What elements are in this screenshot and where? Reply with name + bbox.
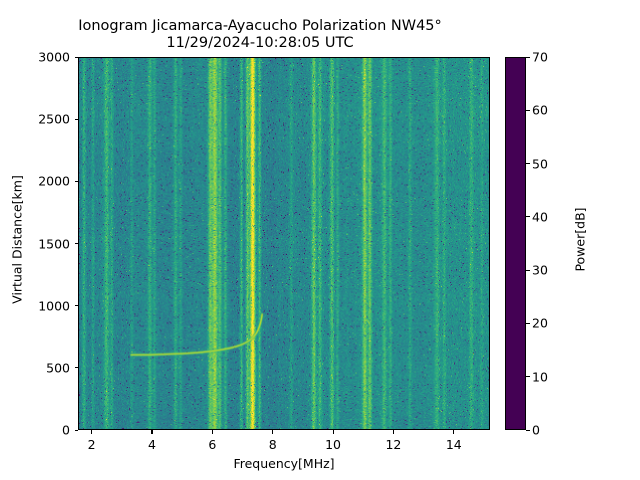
colorbar-tick-mark [526, 430, 530, 431]
y-tick-mark [75, 119, 79, 120]
x-tick-label: 4 [148, 437, 156, 452]
y-tick-mark [75, 57, 79, 58]
title-line-1: Ionogram Jicamarca-Ayacucho Polarization… [0, 18, 520, 35]
y-tick-label: 500 [0, 360, 70, 375]
y-tick-mark [75, 305, 79, 306]
colorbar-tick-label: 60 [532, 103, 548, 118]
colorbar-tick-label: 70 [532, 50, 548, 65]
colorbar-tick-mark [526, 323, 530, 324]
colorbar-label: Power[dB] [573, 160, 588, 320]
colorbar-tick-label: 30 [532, 263, 548, 278]
colorbar-tick-mark [526, 216, 530, 217]
ionogram-figure: Ionogram Jicamarca-Ayacucho Polarization… [0, 0, 640, 480]
x-tick-label: 8 [269, 437, 277, 452]
y-tick-mark [75, 181, 79, 182]
y-tick-mark [75, 430, 79, 431]
x-tick-mark [151, 430, 152, 434]
colorbar-tick-mark [526, 110, 530, 111]
colorbar-tick-label: 10 [532, 369, 548, 384]
y-tick-label: 3000 [0, 50, 70, 65]
x-tick-label: 6 [208, 437, 216, 452]
x-tick-mark [272, 430, 273, 434]
x-tick-mark [453, 430, 454, 434]
x-tick-label: 10 [325, 437, 341, 452]
colorbar-tick-label: 50 [532, 156, 548, 171]
colorbar-tick-label: 0 [532, 423, 540, 438]
x-tick-mark [91, 430, 92, 434]
x-tick-label: 2 [88, 437, 96, 452]
colorbar-gradient [506, 58, 525, 429]
colorbar-tick-mark [526, 57, 530, 58]
x-tick-label: 14 [446, 437, 462, 452]
x-tick-mark [333, 430, 334, 434]
colorbar [505, 57, 526, 430]
x-tick-mark [212, 430, 213, 434]
ionogram-heatmap-canvas [79, 58, 489, 429]
y-tick-mark [75, 367, 79, 368]
y-axis-label: Virtual Distance[km] [10, 160, 25, 320]
x-tick-label: 12 [385, 437, 401, 452]
colorbar-tick-label: 20 [532, 316, 548, 331]
colorbar-tick-mark [526, 376, 530, 377]
title-line-2: 11/29/2024-10:28:05 UTC [0, 35, 520, 52]
y-tick-label: 2500 [0, 112, 70, 127]
colorbar-tick-label: 40 [532, 209, 548, 224]
spectrogram-plot [78, 57, 490, 430]
x-axis-label: Frequency[MHz] [78, 456, 490, 471]
x-tick-mark [393, 430, 394, 434]
colorbar-tick-mark [526, 270, 530, 271]
y-tick-label: 0 [0, 423, 70, 438]
y-tick-mark [75, 243, 79, 244]
colorbar-tick-mark [526, 163, 530, 164]
figure-title: Ionogram Jicamarca-Ayacucho Polarization… [0, 18, 520, 52]
